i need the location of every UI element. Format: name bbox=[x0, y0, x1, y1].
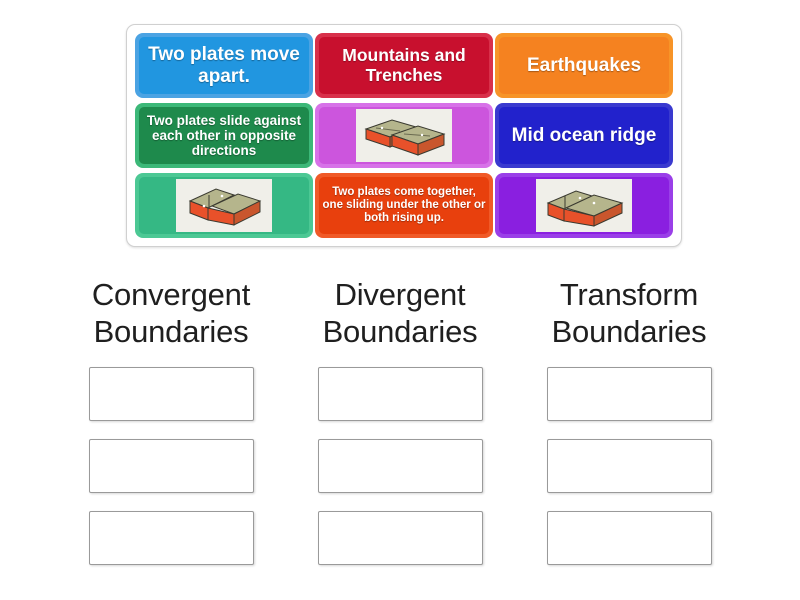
tile-label: Earthquakes bbox=[523, 55, 645, 76]
sorting-columns: Convergent Boundaries Divergent Boundari… bbox=[62, 276, 738, 565]
tile-label: Mountains and Trenches bbox=[318, 46, 490, 85]
tile-transform-boundary-image[interactable] bbox=[315, 103, 493, 168]
column-convergent-boundaries: Convergent Boundaries bbox=[62, 276, 280, 565]
tile-two-plates-move-apart[interactable]: Two plates move apart. bbox=[135, 33, 313, 98]
tile-divergent-boundary-image[interactable] bbox=[135, 173, 313, 238]
tile-row: Two plates move apart. Mountains and Tre… bbox=[135, 33, 673, 98]
dropzone[interactable] bbox=[318, 367, 483, 421]
column-title: Transform Boundaries bbox=[552, 276, 707, 350]
tile-label: Mid ocean ridge bbox=[508, 125, 661, 146]
dropzone[interactable] bbox=[89, 439, 254, 493]
dropzone[interactable] bbox=[89, 511, 254, 565]
tile-tray: Two plates move apart. Mountains and Tre… bbox=[126, 24, 682, 247]
column-divergent-boundaries: Divergent Boundaries bbox=[291, 276, 509, 565]
tile-earthquakes[interactable]: Earthquakes bbox=[495, 33, 673, 98]
dropzone[interactable] bbox=[318, 439, 483, 493]
column-title: Convergent Boundaries bbox=[92, 276, 250, 350]
divergent-boundary-block-diagram-icon bbox=[176, 179, 272, 232]
dropzone[interactable] bbox=[318, 511, 483, 565]
tile-label: Two plates come together, one sliding un… bbox=[318, 186, 490, 225]
tile-label: Two plates move apart. bbox=[138, 44, 310, 87]
dropzone[interactable] bbox=[547, 367, 712, 421]
column-title: Divergent Boundaries bbox=[323, 276, 478, 350]
dropzone[interactable] bbox=[547, 439, 712, 493]
tile-label: Two plates slide against each other in o… bbox=[138, 113, 310, 158]
transform-boundary-block-diagram-icon bbox=[356, 109, 452, 162]
tile-row: Two plates come together, one sliding un… bbox=[135, 173, 673, 238]
tile-two-plates-come-together[interactable]: Two plates come together, one sliding un… bbox=[315, 173, 493, 238]
tile-mountains-and-trenches[interactable]: Mountains and Trenches bbox=[315, 33, 493, 98]
tile-mid-ocean-ridge[interactable]: Mid ocean ridge bbox=[495, 103, 673, 168]
tile-two-plates-slide-against[interactable]: Two plates slide against each other in o… bbox=[135, 103, 313, 168]
column-transform-boundaries: Transform Boundaries bbox=[520, 276, 738, 565]
dropzone[interactable] bbox=[547, 511, 712, 565]
dropzone-list bbox=[547, 367, 712, 565]
dropzone[interactable] bbox=[89, 367, 254, 421]
tile-row: Two plates slide against each other in o… bbox=[135, 103, 673, 168]
convergent-boundary-block-diagram-icon bbox=[536, 179, 632, 232]
dropzone-list bbox=[318, 367, 483, 565]
dropzone-list bbox=[89, 367, 254, 565]
tile-convergent-boundary-image[interactable] bbox=[495, 173, 673, 238]
